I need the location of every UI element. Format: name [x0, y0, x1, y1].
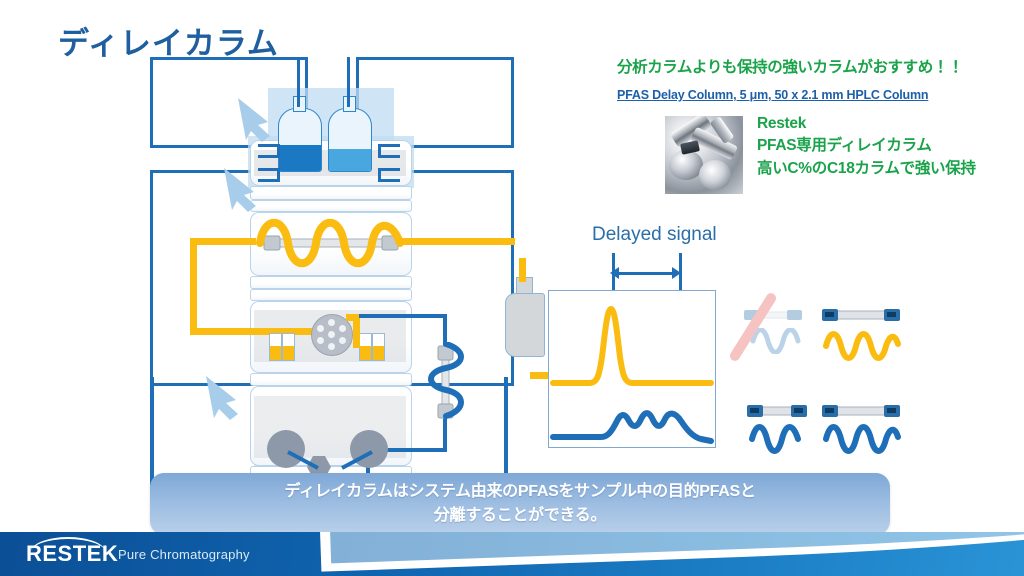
hplc-system-flow-diagram — [150, 52, 510, 452]
blue-line-right-return — [504, 377, 508, 485]
short-analytical-column-wave — [748, 424, 806, 454]
oven-belt — [260, 426, 400, 478]
hplc-column-fittings-photo — [665, 116, 743, 194]
headline-text: 分析カラムよりも保持の強いカラムがおすすめ！！ — [617, 55, 1017, 77]
long-analytical-column-icon — [820, 404, 902, 418]
sample-vial-1 — [269, 333, 282, 361]
short-analytical-column-icon — [746, 404, 808, 418]
analytical-column-coil — [422, 342, 470, 422]
pump-hook-right-4 — [378, 168, 400, 171]
pump-hook-right-1 — [378, 144, 400, 147]
footer-bar: RESTEK Pure Chromatography — [0, 532, 1024, 576]
product-callout: Restek PFAS専用ディレイカラム 高いC%のC18カラムで強い保持 — [665, 113, 1015, 203]
chromatogram-traces — [549, 291, 715, 447]
delay-column-wave — [822, 330, 902, 362]
summary-banner-text: ディレイカラムはシステム由来のPFASをサンプル中の目的PFASと 分離すること… — [284, 480, 755, 528]
sample-vial-3 — [359, 333, 372, 361]
blue-line-left-return — [150, 377, 154, 485]
delay-tube-left-out — [190, 238, 256, 245]
restek-logo: RESTEK — [26, 541, 118, 567]
pointer-arrows — [196, 92, 316, 222]
delay-arrow-head-right — [672, 267, 681, 279]
chromatogram-panel — [548, 290, 716, 448]
delay-span-arrow — [616, 272, 676, 275]
delay-tube-to-valve — [190, 328, 316, 335]
trace-yellow — [553, 309, 711, 383]
stack-divider-4 — [250, 289, 412, 301]
valve-yellow-top — [346, 314, 360, 321]
pump-hook-right-6 — [378, 179, 400, 182]
solvent-bottle-b — [328, 108, 372, 172]
delayed-signal-label: Delayed signal — [592, 224, 717, 246]
trace-blue — [553, 413, 711, 441]
detector-module — [505, 293, 545, 357]
product-description: Restek PFAS専用ディレイカラム 高いC%のC18カラムで強い保持 — [757, 113, 976, 180]
crossed-out-column-wave — [750, 328, 802, 354]
pump-hook-right-3 — [378, 155, 400, 158]
long-analytical-column-wave — [822, 424, 902, 454]
sample-vial-4 — [372, 333, 385, 361]
pointer-arrow-oven — [198, 368, 268, 428]
slide-root: ディレイカラム 分析カラムよりも保持の強いカラムがおすすめ！！ PFAS Del… — [0, 0, 1024, 576]
footer-tagline: Pure Chromatography — [118, 547, 250, 562]
product-link[interactable]: PFAS Delay Column, 5 μm, 50 x 2.1 mm HPL… — [617, 88, 1017, 102]
detector-yellow-inlet — [519, 258, 526, 282]
delay-column-icon — [820, 308, 902, 322]
stack-divider-3 — [250, 276, 412, 289]
delay-arrow-head-left — [610, 267, 619, 279]
solvent-line-b — [347, 57, 350, 107]
delay-column-coil — [250, 212, 412, 274]
sample-vial-2 — [282, 333, 295, 361]
stack-divider-5 — [250, 373, 412, 386]
delay-tube-left-down — [190, 238, 197, 334]
summary-banner: ディレイカラムはシステム由来のPFASをサンプル中の目的PFASと 分離すること… — [150, 473, 890, 535]
delay-tube-right-out — [400, 238, 515, 245]
blue-line-valve-out — [359, 314, 447, 318]
